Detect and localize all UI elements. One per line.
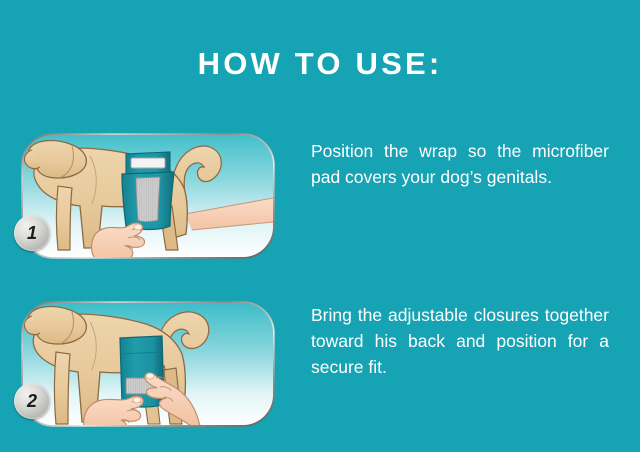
wrap-closure-strip: [131, 158, 165, 168]
step-1-text: Position the wrap so the microfiber pad …: [311, 138, 609, 190]
fingernail-right: [146, 373, 154, 379]
dog-with-wrap-fastened-two-hands-svg: [14, 294, 282, 434]
dog-with-wrap-held-at-belly-svg: [14, 126, 282, 266]
dog-front-leg: [55, 352, 71, 424]
step-1: 1 Position the wrap so the microfiber pa…: [0, 126, 640, 266]
step-badge-2: 2: [14, 383, 50, 419]
dog-front-leg: [57, 186, 73, 250]
microfiber-pad: [136, 177, 160, 222]
infographic-root: HOW TO USE:: [0, 0, 640, 452]
step-badge-1: 1: [14, 215, 50, 251]
illustration-step-2: [14, 294, 282, 434]
fingernail-left: [133, 397, 141, 403]
panel-content: [23, 135, 273, 263]
panel-content: [23, 303, 273, 435]
step-2: 2 Bring the adjustable closures together…: [0, 294, 640, 434]
fingernail: [134, 224, 142, 230]
illustration-step-1: [14, 126, 282, 266]
step-2-text: Bring the adjustable closures together t…: [311, 302, 609, 380]
page-title: HOW TO USE:: [0, 48, 640, 79]
